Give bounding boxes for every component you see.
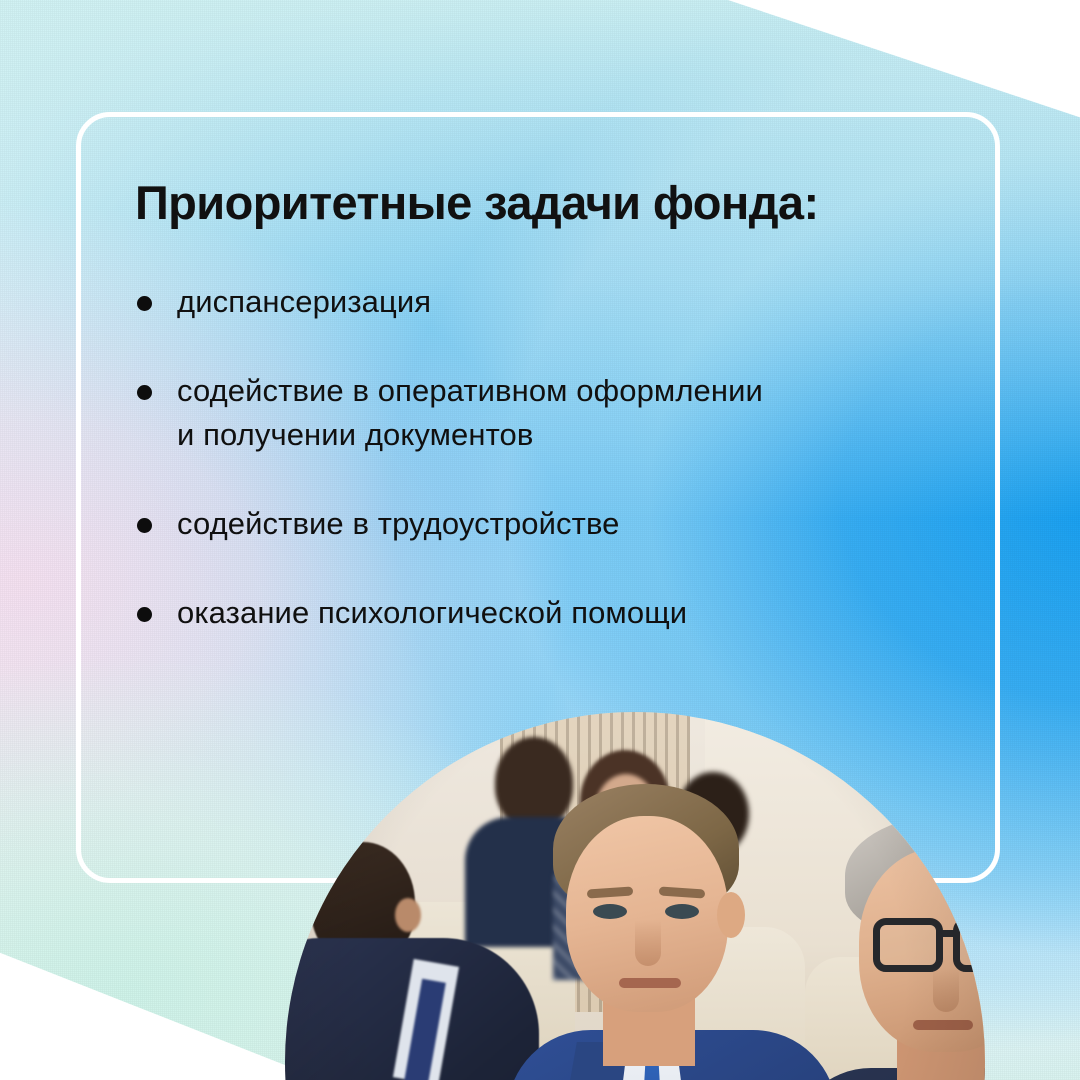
bullet-dot-icon xyxy=(137,385,152,400)
info-card: Приоритетные задачи фонда: диспансеризац… xyxy=(0,0,1080,1080)
list-item-line: диспансеризация xyxy=(177,280,965,323)
bullet-dot-icon xyxy=(137,296,152,311)
priority-task-list: диспансеризация содействие в оперативном… xyxy=(135,280,965,635)
list-item-line: и получении документов xyxy=(177,413,965,456)
bullet-dot-icon xyxy=(137,607,152,622)
list-item: диспансеризация xyxy=(135,280,965,323)
content-block: Приоритетные задачи фонда: диспансеризац… xyxy=(135,178,965,635)
photo-vignette xyxy=(285,712,985,1080)
list-item-line: содействие в оперативном оформлении xyxy=(177,369,965,412)
corner-wedge-top-right xyxy=(722,0,1080,118)
list-item: содействие в трудоустройстве xyxy=(135,502,965,545)
photo-scene xyxy=(285,712,985,1080)
list-item-line: содействие в трудоустройстве xyxy=(177,502,965,545)
page-title: Приоритетные задачи фонда: xyxy=(135,178,965,228)
bullet-dot-icon xyxy=(137,518,152,533)
list-item-line: оказание психологической помощи xyxy=(177,591,965,634)
circular-meeting-photo xyxy=(285,712,985,1080)
list-item: содействие в оперативном оформлении и по… xyxy=(135,369,965,456)
list-item: оказание психологической помощи xyxy=(135,591,965,634)
corner-wedge-bottom-left xyxy=(0,952,328,1080)
